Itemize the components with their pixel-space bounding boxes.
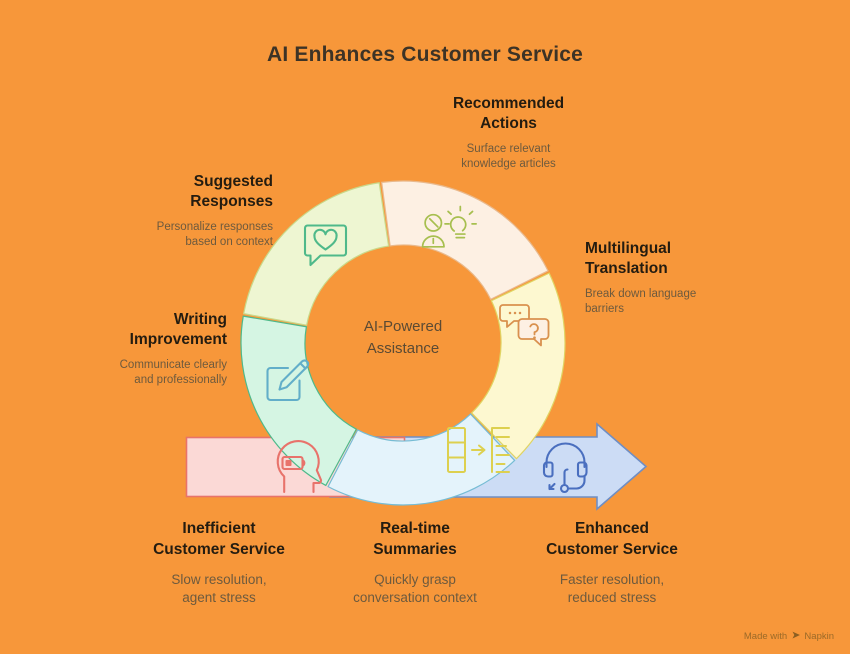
- label-description: Quickly grasp conversation context: [325, 571, 505, 608]
- label-inefficient-customer-service: Inefficient Customer Service Slow resolu…: [114, 519, 324, 608]
- label-title: Real-time Summaries: [325, 519, 505, 561]
- label-description: Faster resolution, reduced stress: [507, 571, 717, 608]
- headset-support-icon: [544, 444, 587, 493]
- label-title: Suggested Responses: [80, 172, 273, 213]
- label-title: Inefficient Customer Service: [114, 519, 324, 561]
- made-with-napkin-credit: Made with ➤ Napkin: [744, 631, 834, 642]
- label-title: Writing Improvement: [57, 310, 227, 351]
- label-suggested-responses: Suggested Responses Personalize response…: [80, 172, 273, 251]
- footer-prefix: Made with: [744, 631, 787, 642]
- person-lightbulb-icon: [423, 207, 477, 247]
- label-description: Communicate clearly and professionally: [57, 358, 227, 389]
- napkin-logo-icon: ➤: [791, 631, 800, 642]
- label-enhanced-customer-service: Enhanced Customer Service Faster resolut…: [507, 519, 717, 608]
- label-title: Multilingual Translation: [585, 239, 765, 280]
- heart-chat-icon: [305, 226, 346, 266]
- donut-center-label: AI-Powered Assistance: [317, 316, 489, 360]
- document-to-list-icon: [448, 428, 509, 472]
- label-description: Surface relevant knowledge articles: [406, 142, 611, 173]
- label-recommended-actions: Recommended Actions Surface relevant kno…: [406, 94, 611, 173]
- edit-pencil-icon: [268, 360, 309, 400]
- chat-question-icon: [500, 305, 549, 346]
- label-description: Break down language barriers: [585, 287, 765, 318]
- label-description: Personalize responses based on context: [80, 220, 273, 251]
- footer-brand: Napkin: [804, 631, 834, 642]
- label-description: Slow resolution, agent stress: [114, 571, 324, 608]
- label-real-time-summaries: Real-time Summaries Quickly grasp conver…: [325, 519, 505, 608]
- label-title: Enhanced Customer Service: [507, 519, 717, 561]
- label-multilingual-translation: Multilingual Translation Break down lang…: [585, 239, 765, 318]
- infographic-canvas: AI Enhances Customer Service: [0, 0, 850, 654]
- label-title: Recommended Actions: [406, 94, 611, 135]
- head-battery-low-icon: [278, 441, 321, 492]
- label-writing-improvement: Writing Improvement Communicate clearly …: [57, 310, 227, 389]
